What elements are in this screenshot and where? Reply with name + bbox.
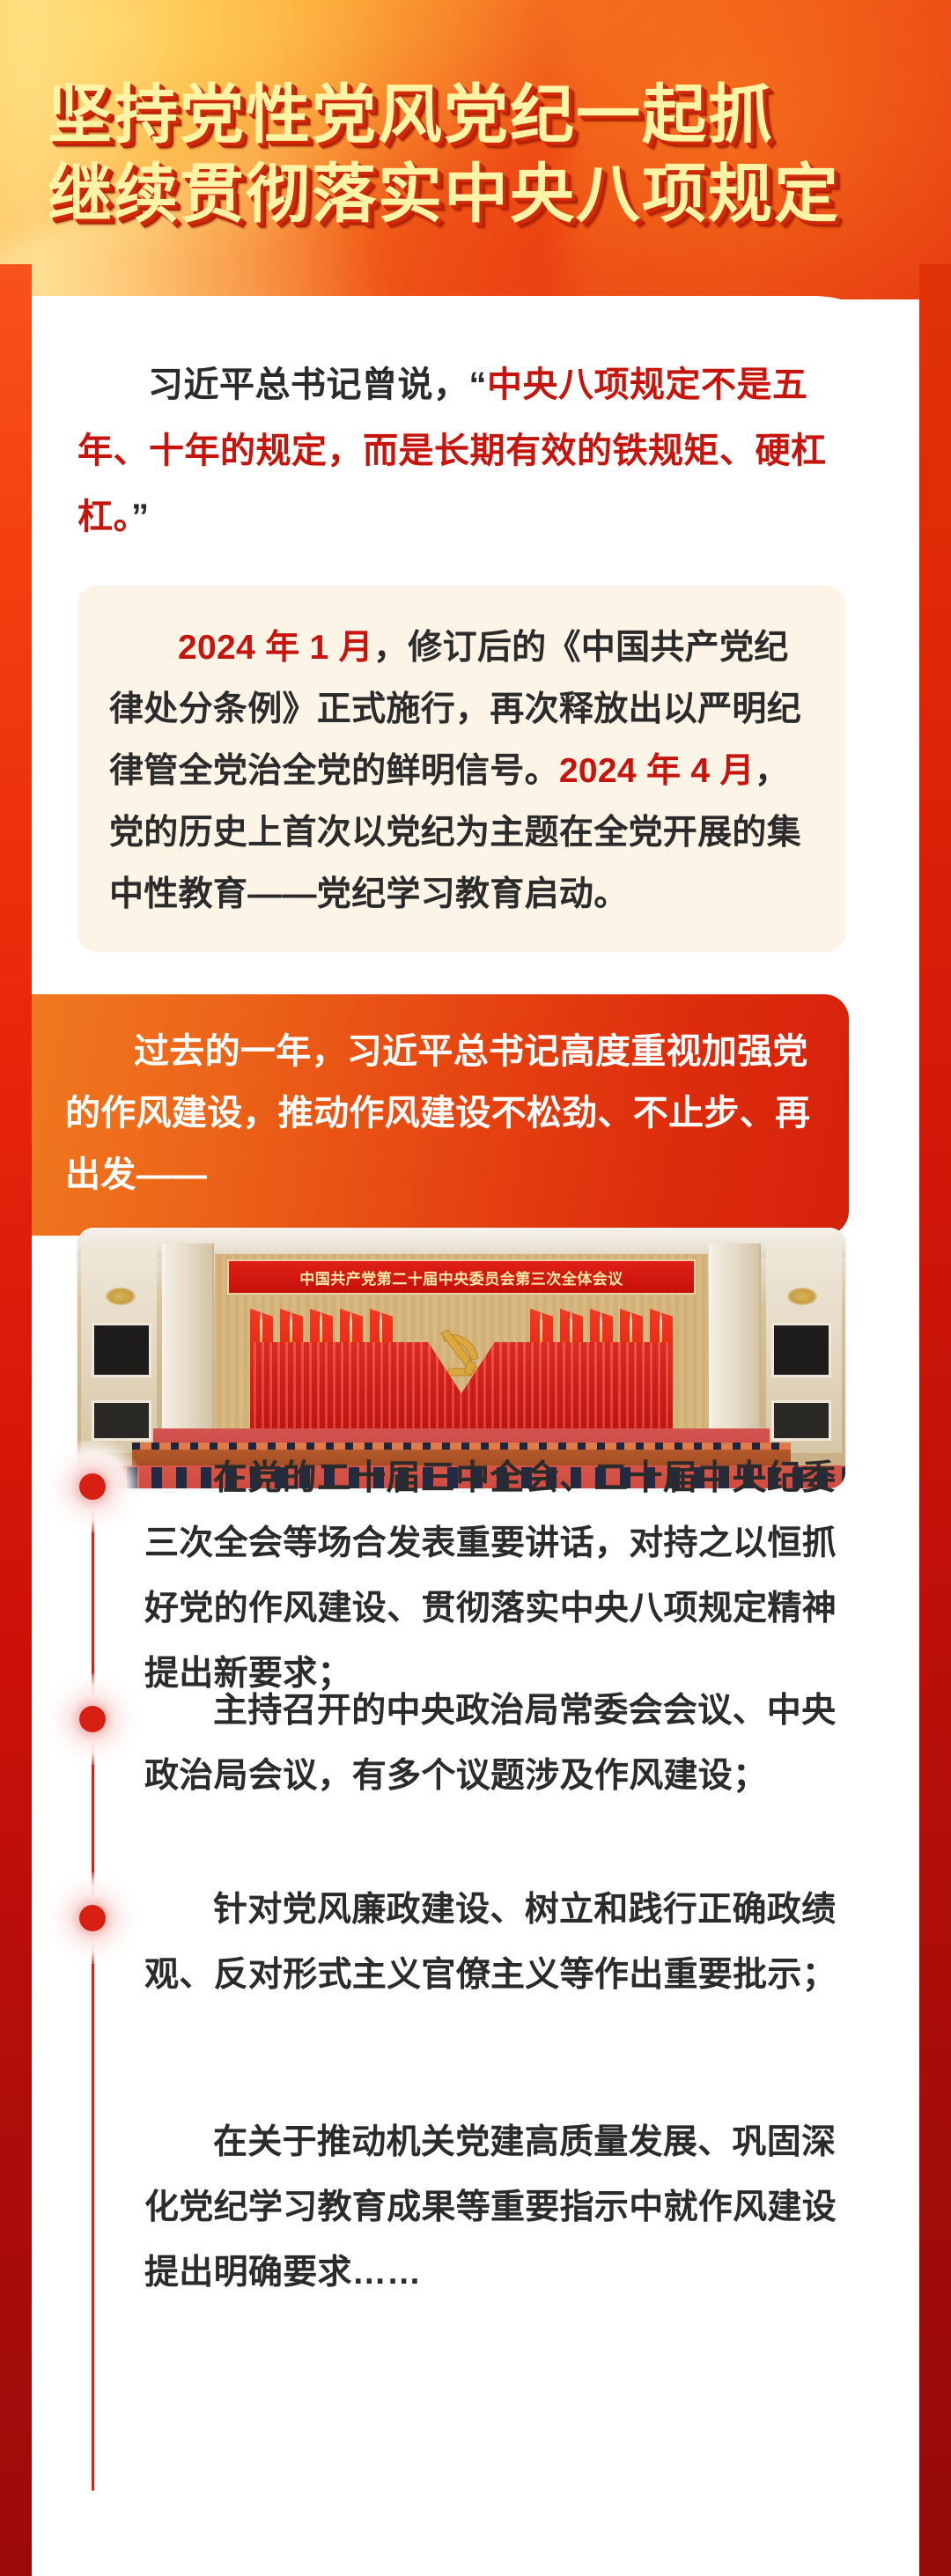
list-item: 在党的二十届三中全会、二十届中央纪委三次全会等场合发表重要讲话，对持之以恒抓好党… xyxy=(144,1446,849,1707)
beige-date-2: 2024 年 4 月 xyxy=(559,752,755,790)
infographic-poster: 坚持党性党风党纪一起抓 继续贯彻落实中央八项规定 习近平总书记曾说，“中央八项规… xyxy=(0,0,951,2576)
photo-column-left xyxy=(162,1244,214,1451)
photo-dark-panel-left xyxy=(92,1323,151,1377)
beige-date-1: 2024 年 1 月 xyxy=(178,629,373,667)
banner-text: 过去的一年，习近平总书记高度重视加强党的作风建设，推动作风建设不松劲、不止步、再… xyxy=(65,1021,814,1206)
photo-conference-banner: 中国共产党第二十届中央委员会第三次全体会议 xyxy=(227,1259,696,1295)
bullet-text-1: 在党的二十届三中全会、二十届中央纪委三次全会等场合发表重要讲话，对持之以恒抓好党… xyxy=(144,1446,849,1707)
beige-paragraph: 2024 年 1 月，修订后的《中国共产党纪律处分条例》正式施行，再次释放出以严… xyxy=(109,617,810,926)
quote-open-mark: “ xyxy=(469,365,488,404)
bullet-text-2: 主持召开的中央政治局常委会会议、中央政治局会议，有多个议题涉及作风建设； xyxy=(144,1679,849,1809)
photo-dark-panel-left-lower xyxy=(92,1400,151,1441)
photo-column-right xyxy=(709,1244,761,1451)
list-item: 针对党风廉政建设、树立和践行正确政绩观、反对形式主义官僚主义等作出重要批示； xyxy=(144,1878,849,2008)
leader-quote: 习近平总书记曾说，“中央八项规定不是五年、十年的规定，而是长期有效的铁规矩、硬杠… xyxy=(77,352,870,550)
photo-dark-panel-right-lower xyxy=(771,1400,831,1441)
list-item: 在关于推动机关党建高质量发展、巩固深化党纪学习教育成果等重要指示中就作风建设提出… xyxy=(144,2110,849,2306)
left-side-bar xyxy=(0,264,32,2576)
timeline-bullet-dot-1 xyxy=(79,1473,106,1500)
list-item: 主持召开的中央政治局常委会会议、中央政治局会议，有多个议题涉及作风建设； xyxy=(144,1679,849,1809)
orange-highlight-banner: 过去的一年，习近平总书记高度重视加强党的作风建设，推动作风建设不松劲、不止步、再… xyxy=(32,994,849,1236)
photo-wall-motif-right xyxy=(787,1288,817,1305)
bullet-text-4: 在关于推动机关党建高质量发展、巩固深化党纪学习教育成果等重要指示中就作风建设提出… xyxy=(144,2110,849,2306)
timeline-bullet-dot-3 xyxy=(79,1905,106,1931)
timeline-vertical-line xyxy=(92,1504,94,2491)
timeline-bullet-dot-2 xyxy=(79,1706,106,1732)
quote-lead: 习近平总书记曾说， xyxy=(148,365,469,404)
quote-close-mark: ” xyxy=(131,498,150,536)
photo-conference-banner-text: 中国共产党第二十届中央委员会第三次全体会议 xyxy=(299,1266,623,1288)
bullet-text-3: 针对党风廉政建设、树立和践行正确政绩观、反对形式主义官僚主义等作出重要批示； xyxy=(144,1878,849,2008)
poster-header: 坚持党性党风党纪一起抓 继续贯彻落实中央八项规定 xyxy=(0,0,951,299)
photo-wall-motif-left xyxy=(106,1288,136,1305)
content-card: 习近平总书记曾说，“中央八项规定不是五年、十年的规定，而是长期有效的铁规矩、硬杠… xyxy=(32,296,919,2576)
photo-dark-panel-right xyxy=(771,1323,831,1377)
title-line-2: 继续贯彻落实中央八项规定 xyxy=(48,155,919,234)
right-side-bar xyxy=(919,264,951,2576)
beige-info-box: 2024 年 1 月，修订后的《中国共产党纪律处分条例》正式施行，再次释放出以严… xyxy=(77,586,845,952)
title-line-1: 坚持党性党风党纪一起抓 xyxy=(48,76,919,155)
poster-title: 坚持党性党风党纪一起抓 继续贯彻落实中央八项规定 xyxy=(48,76,919,234)
